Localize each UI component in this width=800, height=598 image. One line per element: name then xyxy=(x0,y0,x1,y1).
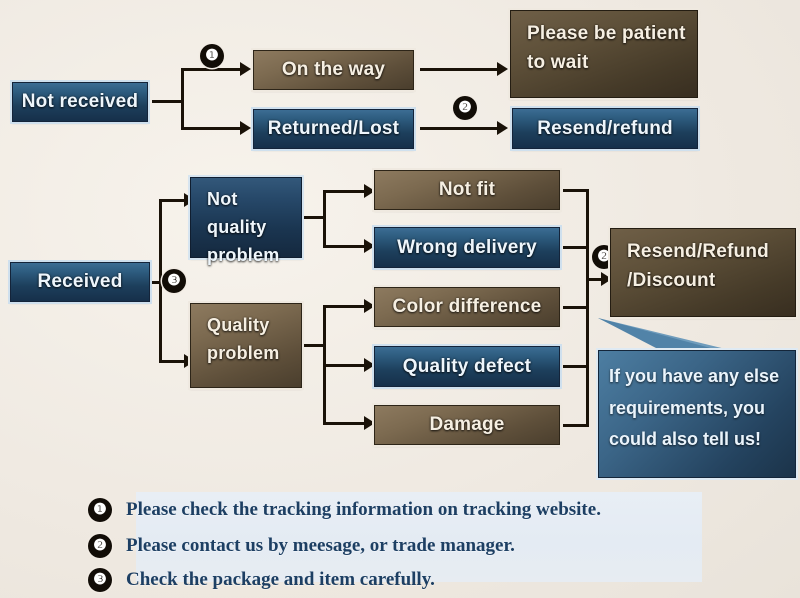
connector-to-returned-lost xyxy=(181,127,241,130)
connector-not-quality-split xyxy=(323,190,326,247)
node-resend-refund-discount[interactable]: Resend/Refund /Discount xyxy=(610,228,796,317)
node-resend-refund[interactable]: Resend/refund xyxy=(512,108,698,149)
arrowhead-on-the-way xyxy=(240,62,251,76)
badge-three-middle: ❸ xyxy=(162,269,186,293)
bubble-line-2: requirements, you xyxy=(609,393,787,425)
legend-text-1: Please check the tracking information on… xyxy=(126,499,601,521)
node-not-received[interactable]: Not received xyxy=(12,82,148,122)
connector-to-damage xyxy=(323,422,365,425)
node-color-difference[interactable]: Color difference xyxy=(374,287,560,327)
badge-three-legend: ❸ xyxy=(88,568,112,592)
speech-bubble-extra-requirements[interactable]: If you have any else requirements, you c… xyxy=(598,350,796,478)
node-not-fit[interactable]: Not fit xyxy=(374,170,560,210)
arrowhead-resend-refund xyxy=(497,121,508,135)
connector-merge-bus xyxy=(586,189,589,427)
node-line-2: /Discount xyxy=(617,266,789,295)
node-line-2: problem xyxy=(197,340,295,368)
badge-two-top: ❷ xyxy=(453,96,477,120)
node-line-1: Please be patient xyxy=(517,19,691,48)
connector-to-not-fit xyxy=(323,190,365,193)
node-line-1: Resend/Refund xyxy=(617,237,789,266)
bubble-line-1: If you have any else xyxy=(609,361,787,393)
node-received[interactable]: Received xyxy=(10,262,150,302)
node-damage[interactable]: Damage xyxy=(374,405,560,445)
connector-to-wrong-delivery xyxy=(323,245,365,248)
connector-to-quality xyxy=(159,360,185,363)
connector-not-received-split xyxy=(181,68,184,130)
flowchart-canvas: Not received ❶ On the way Returned/Lost … xyxy=(0,0,800,598)
connector-on-the-way-to-patient xyxy=(420,68,498,71)
legend-item-3: ❸ Check the package and item carefully. xyxy=(88,568,435,592)
node-line-2: to wait xyxy=(517,48,691,77)
node-on-the-way[interactable]: On the way xyxy=(253,50,414,90)
legend-item-1: ❶ Please check the tracking information … xyxy=(88,498,601,522)
node-line-1: Quality xyxy=(197,312,295,340)
node-wrong-delivery[interactable]: Wrong delivery xyxy=(374,227,560,268)
connector-not-received-trunk xyxy=(152,100,184,103)
legend-item-2: ❷ Please contact us by meesage, or trade… xyxy=(88,534,515,558)
bubble-line-3: could also tell us! xyxy=(609,424,787,456)
node-line-1: Not quality xyxy=(197,186,295,242)
arrowhead-returned-lost xyxy=(240,121,251,135)
legend-text-2: Please contact us by meesage, or trade m… xyxy=(126,535,515,557)
connector-to-on-the-way xyxy=(181,68,241,71)
node-not-quality-problem[interactable]: Not quality problem xyxy=(190,177,302,258)
node-quality-problem[interactable]: Quality problem xyxy=(190,303,302,388)
connector-to-not-quality xyxy=(159,199,185,202)
badge-two-legend: ❷ xyxy=(88,534,112,558)
connector-returned-to-resend xyxy=(420,127,498,130)
badge-one-top: ❶ xyxy=(200,44,224,68)
badge-one-legend: ❶ xyxy=(88,498,112,522)
node-please-be-patient[interactable]: Please be patient to wait xyxy=(510,10,698,98)
arrowhead-please-be-patient xyxy=(497,62,508,76)
legend-text-3: Check the package and item carefully. xyxy=(126,569,435,591)
connector-to-quality-defect xyxy=(323,364,365,367)
connector-to-color-difference xyxy=(323,305,365,308)
node-line-2: problem xyxy=(197,242,295,270)
node-quality-defect[interactable]: Quality defect xyxy=(374,346,560,387)
node-returned-lost[interactable]: Returned/Lost xyxy=(253,109,414,149)
